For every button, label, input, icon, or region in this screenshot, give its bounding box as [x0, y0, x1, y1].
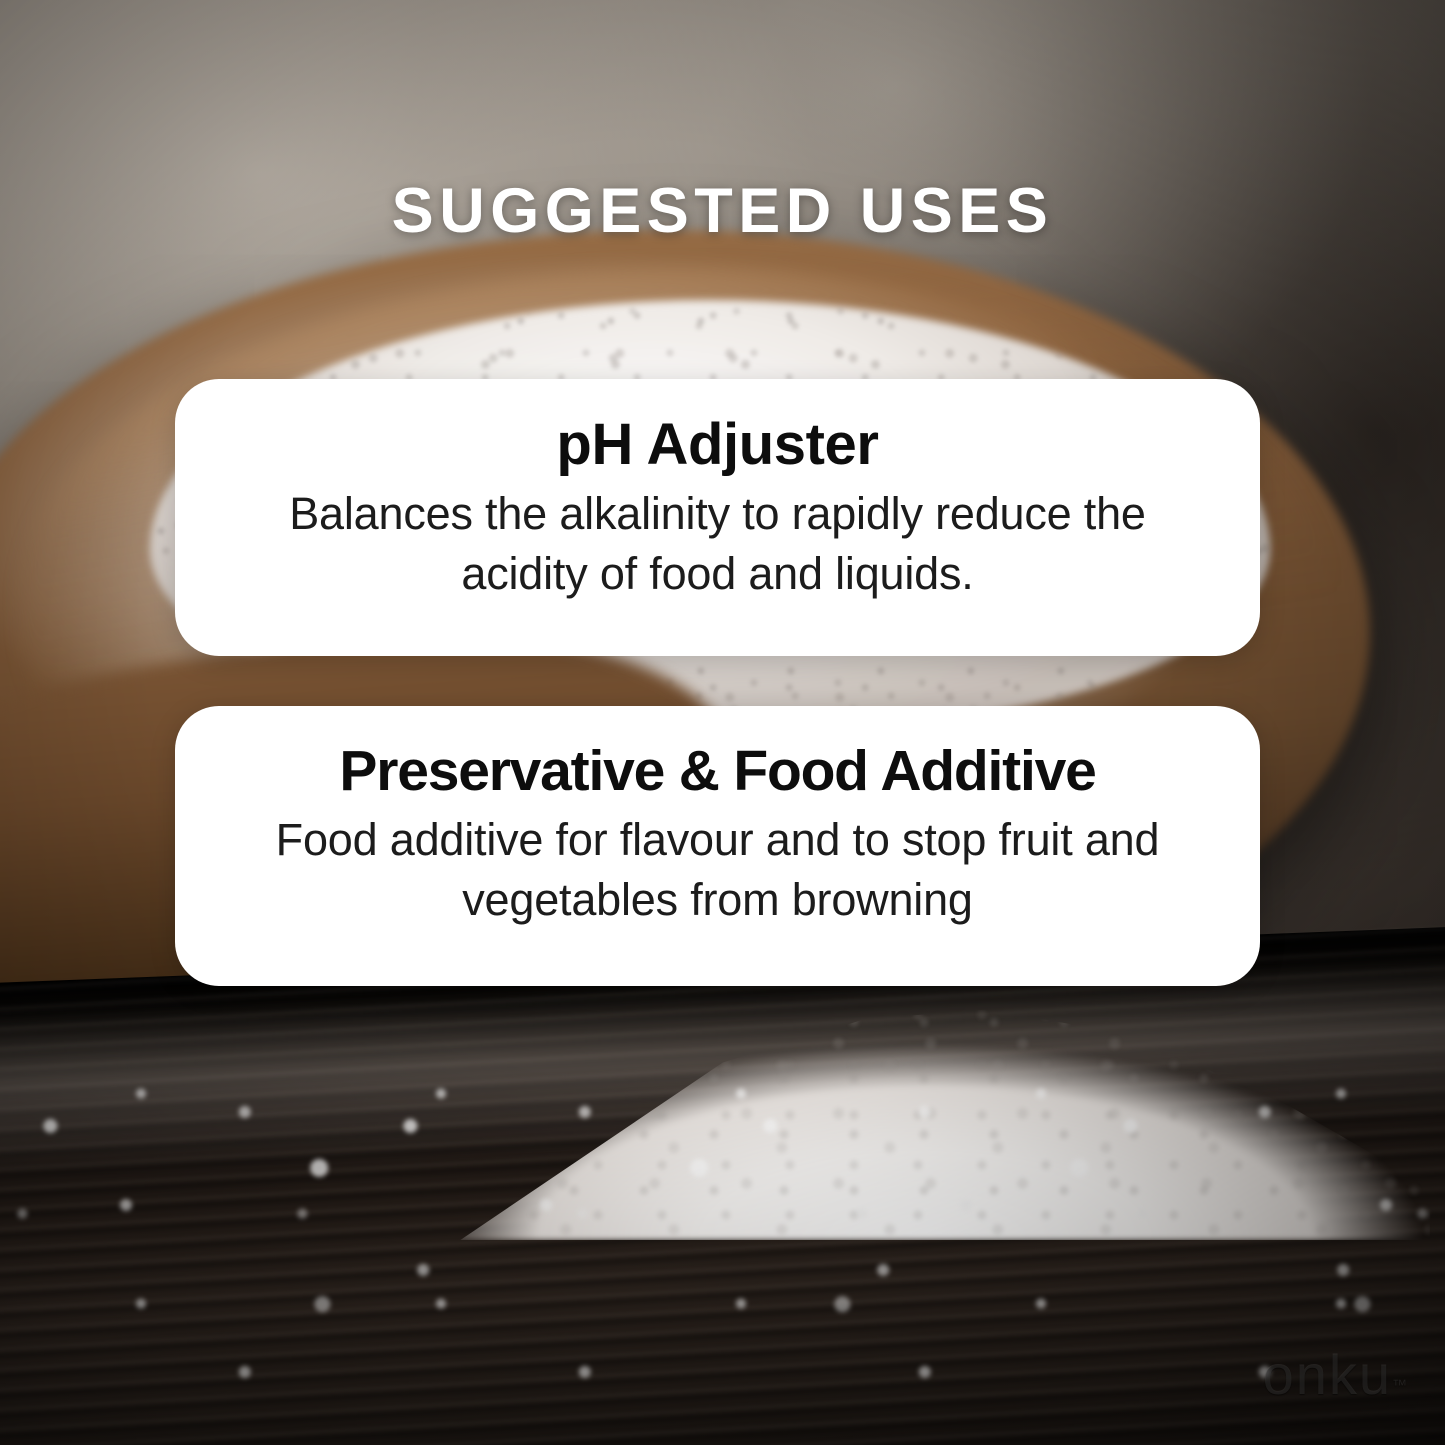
use-card-heading: Preservative & Food Additive	[221, 740, 1214, 804]
page-title: SUGGESTED USES	[0, 178, 1445, 244]
use-card-ph-adjuster: pH Adjuster Balances the alkalinity to r…	[175, 379, 1260, 656]
content-overlay: SUGGESTED USES pH Adjuster Balances the …	[0, 0, 1445, 1445]
brand-watermark: onku™	[1263, 1347, 1407, 1403]
use-card-body: Food additive for flavour and to stop fr…	[221, 810, 1214, 930]
brand-watermark-name: onku	[1263, 1343, 1392, 1406]
product-infographic: SUGGESTED USES pH Adjuster Balances the …	[0, 0, 1445, 1445]
use-card-heading: pH Adjuster	[221, 413, 1214, 478]
use-card-body: Balances the alkalinity to rapidly reduc…	[221, 484, 1214, 604]
trademark-symbol: ™	[1392, 1377, 1407, 1394]
use-card-preservative-food-additive: Preservative & Food Additive Food additi…	[175, 706, 1260, 986]
